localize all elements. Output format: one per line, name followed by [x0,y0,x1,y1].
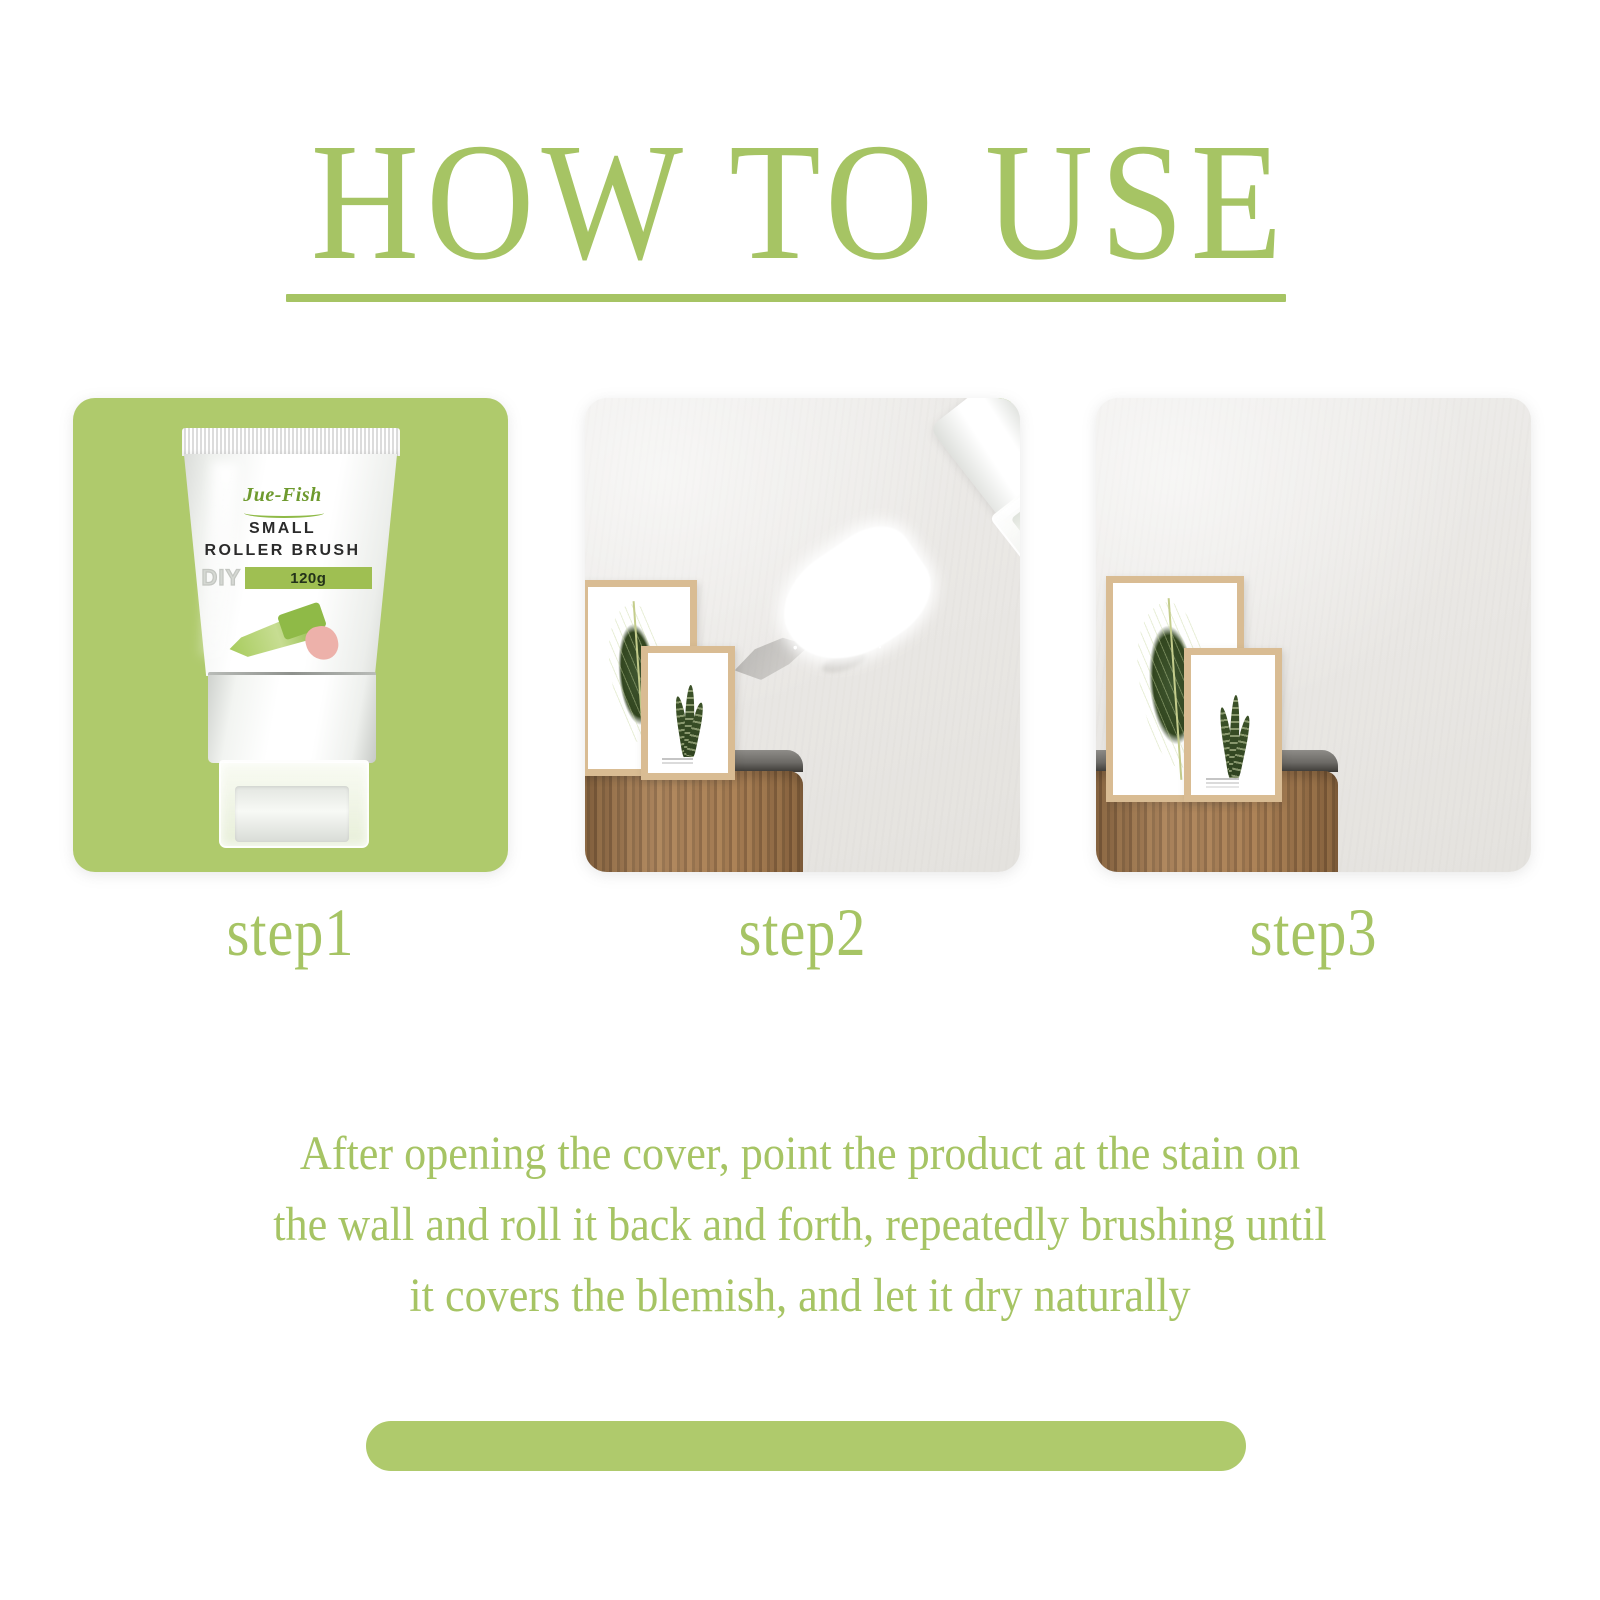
tube-crimp-seal [182,428,400,456]
step-panel-1[interactable]: Jue-Fish SMALL ROLLER BRUSH DIY 120g [73,398,508,872]
product-name-line-2: ROLLER BRUSH [172,542,394,560]
instructions-line-3: it covers the blemish, and let it dry na… [156,1260,1444,1331]
framed-art-snake-plant [1184,648,1282,802]
artwork-caption-lines [662,758,692,760]
step-panel-2[interactable] [585,398,1020,872]
step-panel-3[interactable] [1096,398,1531,872]
product-name-line-1: SMALL [172,520,394,538]
step-captions-row: step1 step2 step3 [73,898,1531,988]
step-caption-3: step3 [1126,898,1500,988]
artwork-caption-lines [1206,778,1238,780]
product-diy-label: DIY [202,565,242,591]
product-weight-badge: 120g [245,567,371,589]
tube-neck [208,675,376,763]
sideboard-wood-body [585,771,803,872]
page-title: HOW TO USE [0,118,1600,286]
framed-art-snake-plant [641,646,735,780]
instructions-line-1: After opening the cover, point the produ… [156,1118,1444,1189]
frame-mat [1198,662,1268,788]
brand-swoosh-icon [244,508,324,518]
instructions-paragraph: After opening the cover, point the produ… [156,1118,1444,1331]
usage-illustration-icon [224,602,364,668]
instructions-line-2: the wall and roll it back and forth, rep… [156,1189,1444,1260]
title-underline-rule [286,294,1286,302]
step-caption-1: step1 [103,898,477,988]
product-diy-weight-row: DIY 120g [202,566,372,590]
frame-mat [655,660,721,766]
product-tube-illustration: Jue-Fish SMALL ROLLER BRUSH DIY 120g [172,428,410,848]
tube-applicator-housing [219,760,369,848]
product-brand-label: Jue-Fish [172,484,394,507]
tube-roller-sponge [235,786,349,842]
step-caption-2: step2 [615,898,989,988]
steps-image-row: Jue-Fish SMALL ROLLER BRUSH DIY 120g [73,398,1531,876]
bottom-accent-bar [366,1421,1246,1471]
page-header: HOW TO USE [0,118,1600,268]
